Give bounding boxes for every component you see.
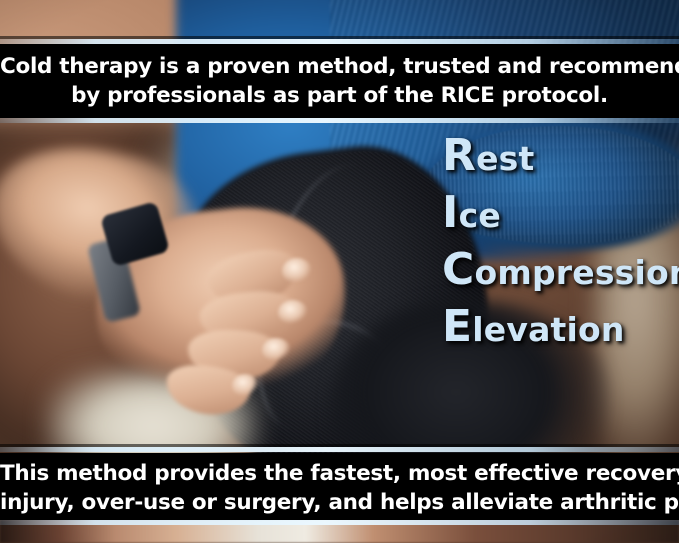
rice-word-rest: est [476, 139, 534, 178]
rice-initial-e: E [442, 301, 472, 352]
poster: Rest Ice Compression Elevation Cold ther… [0, 0, 679, 543]
rice-item-elevation: Elevation [442, 313, 674, 346]
top-caption-banner: Cold therapy is a proven method, trusted… [0, 44, 679, 118]
bottom-caption-line-1: This method provides the fastest, most e… [0, 459, 679, 488]
top-banner-separator-below [0, 118, 679, 123]
rice-word-elevation: levation [472, 310, 624, 349]
rice-word-compression: ompression [475, 253, 679, 292]
bottom-caption-banner: This method provides the fastest, most e… [0, 453, 679, 520]
top-caption-line-2: by professionals as part of the RICE pro… [0, 81, 679, 110]
rice-initial-r: R [442, 130, 476, 181]
rice-initial-c: C [442, 244, 475, 295]
bottom-banner-separator-below [0, 520, 679, 525]
bottom-banner-separator-above [0, 447, 679, 452]
bottom-caption-line-2: injury, over-use or surgery, and helps a… [0, 488, 679, 517]
rice-initial-i: I [442, 187, 459, 238]
rice-item-rest: Rest [442, 142, 674, 175]
rice-word-ice: ce [459, 196, 501, 235]
rice-item-ice: Ice [442, 199, 674, 232]
top-caption-line-1: Cold therapy is a proven method, trusted… [0, 52, 679, 81]
rice-acronym-list: Rest Ice Compression Elevation [442, 142, 674, 346]
rice-item-compression: Compression [442, 256, 674, 289]
